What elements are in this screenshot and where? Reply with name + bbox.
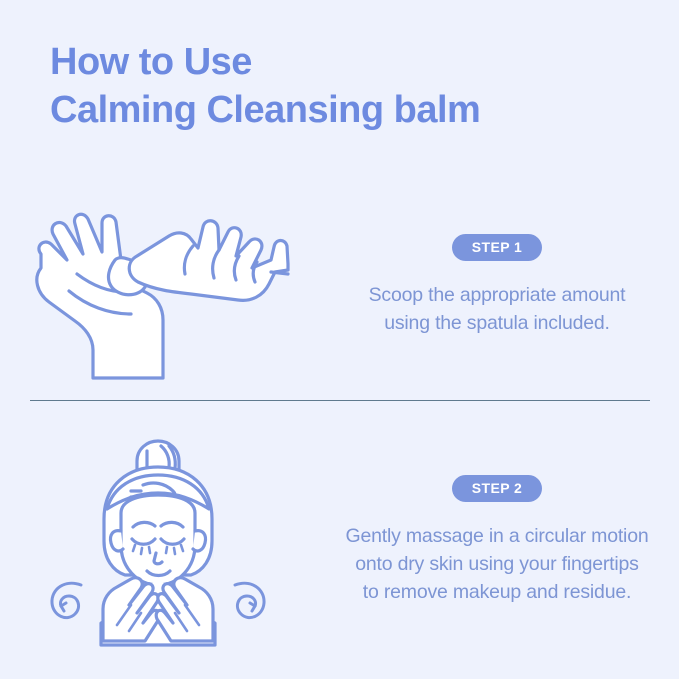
step-1-badge: STEP 1 bbox=[452, 234, 542, 261]
step-2-badge: STEP 2 bbox=[452, 475, 542, 502]
step-2-text-cell: STEP 2 Gently massage in a circular moti… bbox=[315, 475, 679, 606]
step-2-description-line-1: Gently massage in a circular motion bbox=[346, 522, 649, 550]
step-row-1: STEP 1 Scoop the appropriate amount usin… bbox=[0, 180, 679, 390]
motion-spiral-right-icon bbox=[235, 583, 264, 617]
step-1-text-cell: STEP 1 Scoop the appropriate amount usin… bbox=[315, 234, 679, 337]
page-title: How to Use Calming Cleansing balm bbox=[50, 38, 650, 134]
step-2-description: Gently massage in a circular motion onto… bbox=[346, 522, 649, 606]
step-1-illustration-cell bbox=[0, 190, 315, 380]
title-line-2: Calming Cleansing balm bbox=[50, 86, 650, 134]
step-1-description-line-2: using the spatula included. bbox=[369, 309, 626, 337]
step-row-2: STEP 2 Gently massage in a circular moti… bbox=[0, 425, 679, 655]
step-2-description-line-2: onto dry skin using your fingertips bbox=[346, 550, 649, 578]
title-line-1: How to Use bbox=[50, 38, 650, 86]
hands-with-spatula-illustration bbox=[23, 190, 293, 380]
step-1-description-line-1: Scoop the appropriate amount bbox=[369, 281, 626, 309]
step-2-illustration-cell bbox=[0, 433, 315, 648]
section-divider bbox=[30, 400, 650, 401]
face-massage-illustration bbox=[43, 433, 273, 648]
how-to-use-infographic: How to Use Calming Cleansing balm bbox=[0, 0, 679, 679]
motion-spiral-left-icon bbox=[51, 583, 80, 617]
step-2-description-line-3: to remove makeup and residue. bbox=[346, 578, 649, 606]
step-1-description: Scoop the appropriate amount using the s… bbox=[369, 281, 626, 337]
